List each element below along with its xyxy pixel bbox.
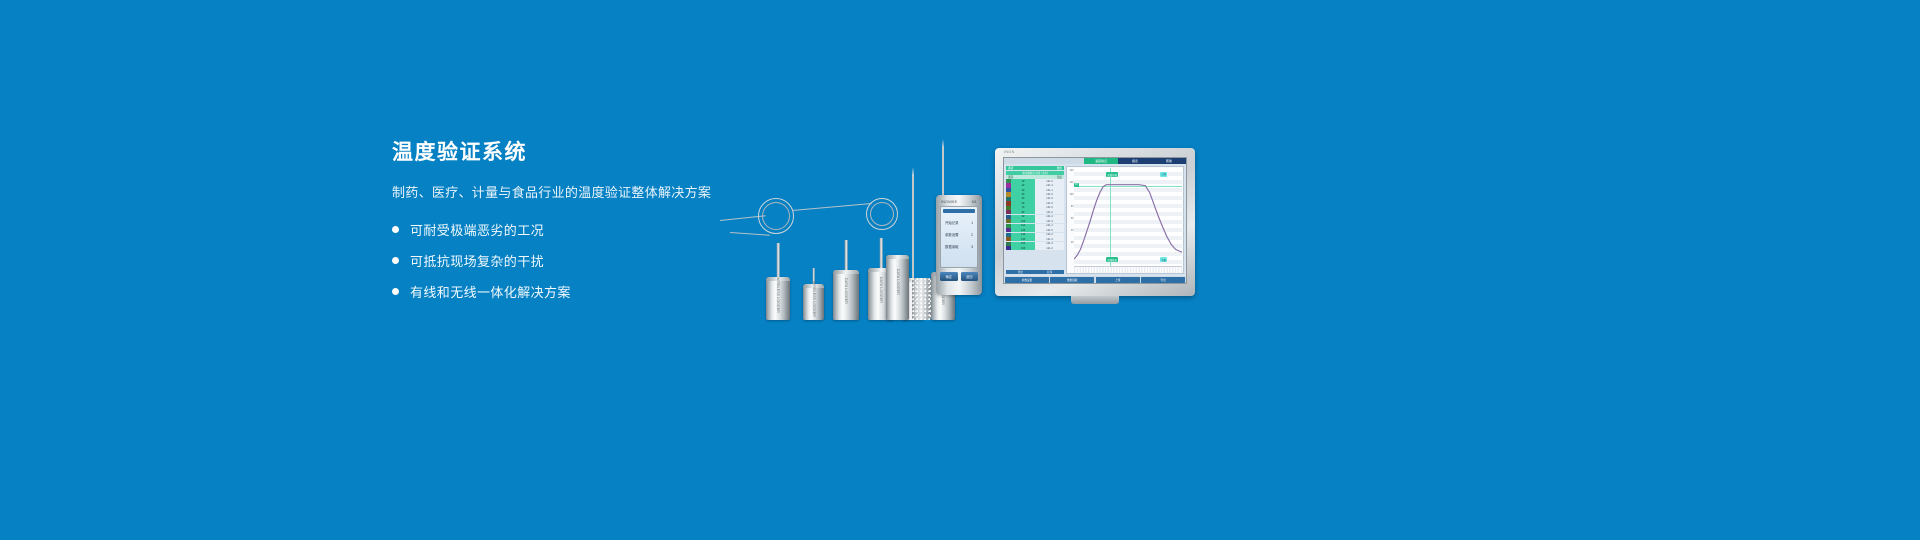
table-row[interactable]: 10#121.3 [1006, 219, 1064, 223]
y-tick: 120 [1070, 181, 1074, 184]
handheld-menu-index: 2 [971, 233, 973, 237]
limit-lower-label: 下限 [1160, 257, 1167, 262]
cell-value: 121.1 [1035, 224, 1064, 228]
cell-value: 121.4 [1035, 183, 1064, 187]
table-row[interactable]: 15#121.3 [1006, 242, 1064, 246]
logger-cap [833, 270, 859, 274]
table-row[interactable]: 11#121.1 [1006, 224, 1064, 228]
channel-rows: 1#121.2 2#121.4 3#121.1 4#121.5 5#121.3 … [1006, 179, 1064, 269]
handheld-model: M1 [972, 200, 977, 204]
cell-value: 121.4 [1035, 215, 1064, 219]
y-tick: 140 [1070, 169, 1074, 172]
table-print-button[interactable]: 打印 [1035, 270, 1064, 275]
table-row[interactable]: 2#121.4 [1006, 183, 1064, 187]
monitor-stand [1071, 296, 1119, 304]
handheld-button-row: 确定 返回 [940, 272, 978, 281]
cell-value: 121.3 [1035, 197, 1064, 201]
table-row[interactable]: 1#121.2 [1006, 179, 1064, 183]
limit-upper-label: 上限 [1160, 172, 1167, 177]
logger-stem [845, 240, 848, 270]
feature-label: 有线和无线一体化解决方案 [410, 282, 571, 301]
handheld-menu-label: 数据读取 [945, 244, 959, 249]
logger-cylinder: DATA LOGGER [833, 270, 859, 320]
marker-end-label: 灭菌结束 [1106, 257, 1118, 262]
temperature-chart: 140 120 100 80 60 40 20 [1066, 166, 1184, 274]
handheld-menu-label: 开始记录 [945, 220, 959, 225]
cell-value: 121.2 [1035, 210, 1064, 214]
channel-header-left: 通道 [1008, 166, 1013, 170]
cell-channel: 16# [1011, 246, 1035, 250]
hero-banner: 温度验证系统 制药、医疗、计量与食品行业的温度验证整体解决方案 可耐受极端恶劣的… [0, 0, 1920, 540]
table-row[interactable]: 8#121.2 [1006, 210, 1064, 214]
handheld-menu-item[interactable]: 数据读取 3 [943, 244, 975, 249]
product-photo-group: WIRELESS LOGGER WIRELESS LOGGER DATA LOG… [700, 120, 1260, 320]
monitor-screen: 温度验证 报表 帮助 通道 数值 验证数据记录表 / 实时 通道 温度 [1003, 157, 1187, 284]
bullet-dot-icon [392, 257, 399, 264]
logger-cylinder: WIRELESS LOGGER [766, 277, 790, 320]
cell-channel: 14# [1011, 237, 1035, 241]
logger-cylinder: DATA LOGGER [902, 278, 924, 320]
marker-start-label: 灭菌开始 [1106, 172, 1118, 177]
bullet-dot-icon [392, 288, 399, 295]
channel-table-subheader: 验证数据记录表 / 实时 [1006, 171, 1064, 175]
cell-value: 121.4 [1035, 237, 1064, 241]
chart-x-axis-strip [1074, 266, 1182, 273]
feature-label: 可抵抗现场复杂的干扰 [410, 251, 544, 270]
handheld-brand: INONIKE [941, 200, 957, 204]
cable-coil-icon [866, 198, 898, 230]
table-row[interactable]: 6#121.0 [1006, 201, 1064, 205]
cell-value: 121.2 [1035, 179, 1064, 183]
btn-read-data[interactable]: 数据读取 [1050, 277, 1094, 283]
handheld-menu-label: 参数设置 [945, 232, 959, 237]
cell-value: 121.0 [1035, 201, 1064, 205]
cell-channel: 6# [1011, 201, 1035, 205]
channel-header-right: 数值 [1057, 166, 1062, 170]
software-bottom-toolbar: 参数设置 数据读取 上传 导出 [1004, 276, 1186, 283]
handheld-reader[interactable]: INONIKE M1 开始记录 1 参数设置 2 数据读取 3 确 [936, 195, 982, 295]
cell-channel: 12# [1011, 228, 1035, 232]
logger-label: DATA LOGGER [844, 278, 848, 304]
cell-channel: 10# [1011, 219, 1035, 223]
logger-cap [902, 278, 924, 282]
table-row[interactable]: 5#121.3 [1006, 197, 1064, 201]
logger-label: DATA LOGGER [879, 277, 883, 303]
axis-tag-f0: F0 [1074, 183, 1079, 187]
channel-table: 通道 数值 验证数据记录表 / 实时 通道 温度 1#121.2 2#121.4… [1006, 166, 1064, 274]
btn-upload[interactable]: 上传 [1096, 277, 1140, 283]
table-row[interactable]: 4#121.5 [1006, 192, 1064, 196]
table-row[interactable]: 13#121.2 [1006, 233, 1064, 237]
logger-needle-probe [912, 176, 914, 278]
btn-parameter-settings[interactable]: 参数设置 [1005, 277, 1049, 283]
table-row[interactable]: 14#121.4 [1006, 237, 1064, 241]
cell-value: 121.1 [1035, 188, 1064, 192]
chart-series-path [1074, 168, 1182, 266]
handheld-screen: 开始记录 1 参数设置 2 数据读取 3 [940, 206, 978, 268]
table-row[interactable]: 9#121.4 [1006, 215, 1064, 219]
chart-plot-area: 灭菌开始 灭菌结束 上限 下限 F0 [1074, 168, 1182, 266]
cell-channel: 8# [1011, 210, 1035, 214]
chart-y-axis: 140 120 100 80 60 40 20 [1067, 167, 1074, 273]
channel-table-footer: 导出 打印 [1006, 270, 1064, 275]
logger-label: WIRELESS LOGGER [812, 281, 816, 317]
logger-label: DATA LOGGER [911, 283, 915, 309]
cell-channel: 15# [1011, 242, 1035, 246]
table-row[interactable]: 7#121.6 [1006, 206, 1064, 210]
cell-value: 121.2 [1035, 233, 1064, 237]
cell-channel: 13# [1011, 233, 1035, 237]
monitor-brand: INON [1004, 150, 1015, 154]
cell-value: 121.5 [1035, 192, 1064, 196]
table-row[interactable]: 16#121.2 [1006, 246, 1064, 250]
handheld-menu-index: 1 [971, 221, 973, 225]
cell-value: 121.6 [1035, 206, 1064, 210]
cell-channel: 3# [1011, 188, 1035, 192]
cell-channel: 11# [1011, 224, 1035, 228]
cell-value: 121.3 [1035, 219, 1064, 223]
cell-channel: 4# [1011, 192, 1035, 196]
handheld-back-button[interactable]: 返回 [961, 272, 979, 281]
cable-coil-icon [758, 198, 794, 234]
bullet-dot-icon [392, 226, 399, 233]
handheld-titlebar [943, 209, 975, 213]
handheld-confirm-button[interactable]: 确定 [940, 272, 958, 281]
cell-channel: 7# [1011, 206, 1035, 210]
table-row[interactable]: 12#121.5 [1006, 228, 1064, 232]
table-row[interactable]: 3#121.1 [1006, 188, 1064, 192]
y-tick: 100 [1070, 193, 1074, 196]
logger-label: WIRELESS LOGGER [776, 277, 780, 313]
series-line [1074, 185, 1182, 259]
logger-cap [868, 268, 894, 272]
software-body: 通道 数值 验证数据记录表 / 实时 通道 温度 1#121.2 2#121.4… [1004, 164, 1186, 276]
handheld-menu-item[interactable]: 开始记录 1 [943, 220, 975, 225]
logger-cylinder: DATA LOGGER [868, 268, 894, 320]
cell-channel: 2# [1011, 183, 1035, 187]
cable-wire [730, 232, 770, 236]
btn-export[interactable]: 导出 [1141, 277, 1185, 283]
logger-cylinder: WIRELESS LOGGER [803, 284, 824, 320]
table-export-button[interactable]: 导出 [1006, 270, 1035, 275]
handheld-menu-index: 3 [971, 245, 973, 249]
cell-channel: 5# [1011, 197, 1035, 201]
cell-value: 121.5 [1035, 228, 1064, 232]
cell-channel: 9# [1011, 215, 1035, 219]
logger-stem [777, 243, 780, 277]
channel-table-header: 通道 数值 [1006, 166, 1064, 170]
handheld-menu-item[interactable]: 参数设置 2 [943, 232, 975, 237]
cell-value: 121.2 [1035, 246, 1064, 250]
monitor-display: INON 温度验证 报表 帮助 通道 数值 验证数据记录表 / 实时 [995, 148, 1195, 296]
cell-channel: 1# [1011, 179, 1035, 183]
logger-stem [880, 238, 883, 268]
cable-wire [792, 203, 872, 211]
cell-value: 121.3 [1035, 242, 1064, 246]
feature-label: 可耐受极端恶劣的工况 [410, 220, 544, 239]
